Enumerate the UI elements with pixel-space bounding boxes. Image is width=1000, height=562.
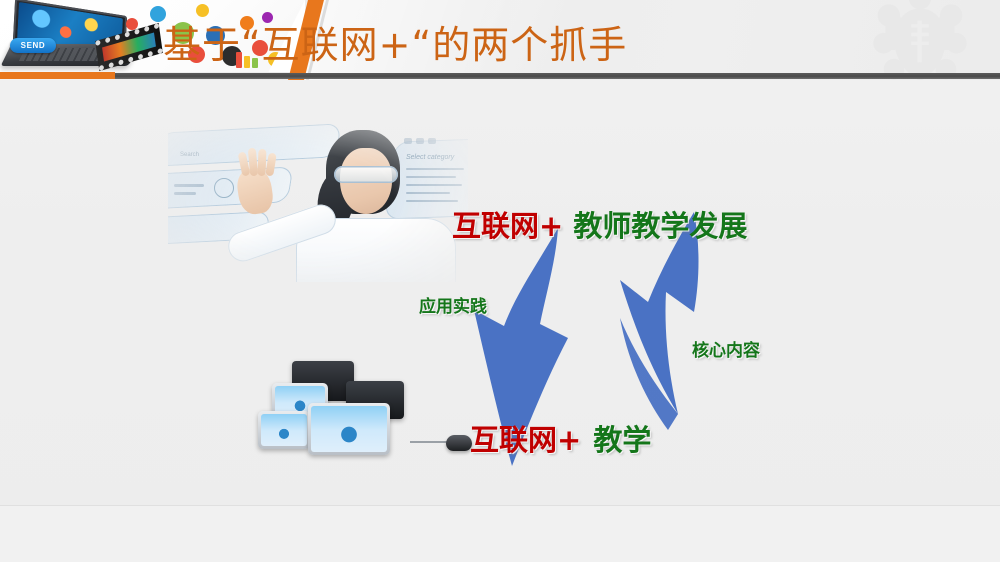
bottom-concept-line: 互联网+教学 [470,417,651,459]
burst-dot-icon [126,18,138,30]
header-dark-rule [115,73,1000,79]
page-title: 基于“互联网+“的两个抓手 [163,14,627,69]
right-arrow-label: 核心内容 [692,336,760,361]
send-badge: SEND [10,38,56,53]
top-concept-suffix: 教师教学发展 [563,209,747,243]
bottom-concept-prefix: 互联网+ [470,423,581,457]
bottom-concept-suffix: 教学 [581,423,651,457]
left-arrow-label: 应用实践 [419,292,487,317]
slide-header: SEND [0,0,1000,80]
university-seal-watermark [868,0,972,80]
slide-body: Search Select category [0,80,1000,505]
presentation-slide: SEND [0,0,1000,562]
top-concept-line: 互联网+教师教学发展 [452,203,747,245]
slide-footer: 19 现代教学技术教育部重点实验室陕西师范大学国家级教师教学发展示范中心 [0,505,1000,562]
header-orange-rule [0,72,115,79]
top-concept-prefix: 互联网+ [452,209,563,243]
